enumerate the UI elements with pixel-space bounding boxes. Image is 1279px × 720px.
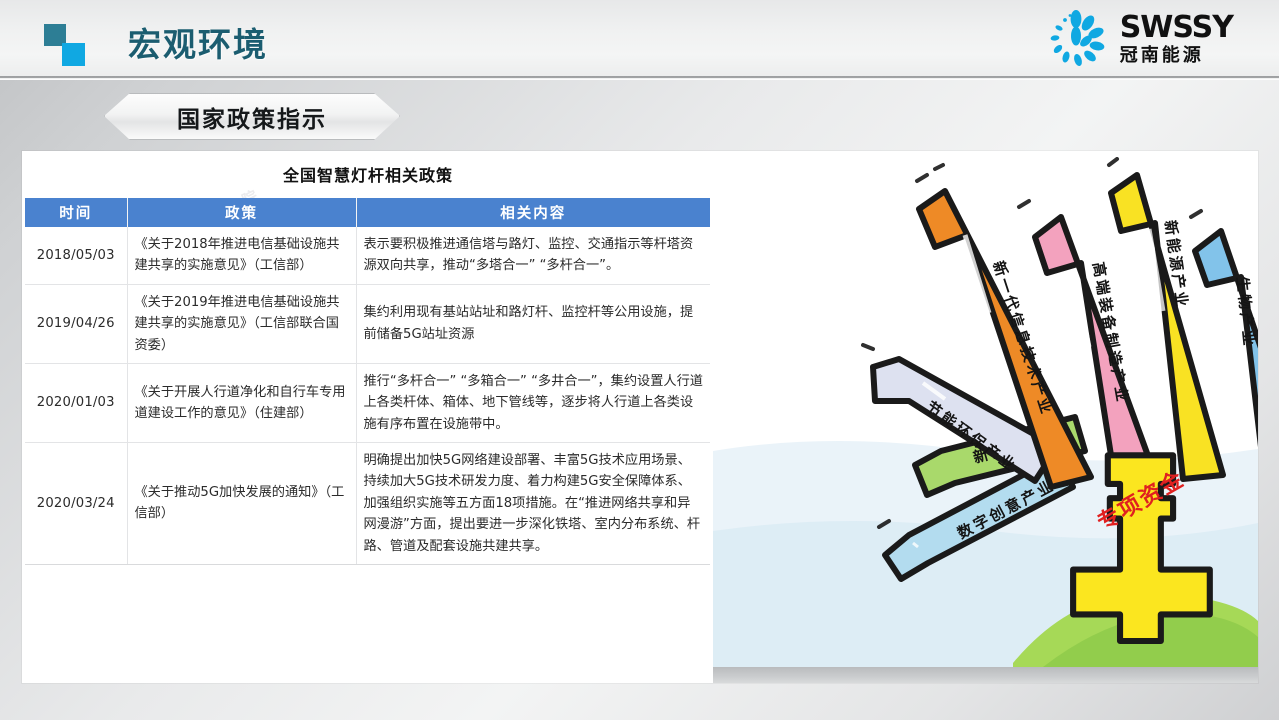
cell-time: 2019/04/26: [25, 284, 127, 363]
cell-policy: 《关于开展人行道净化和自行车专用道建设工作的意见》（住建部）: [127, 363, 356, 442]
illustration-arrows-yuan: 数字创意产业 新能源汽车 节能环保产业: [713, 151, 1258, 683]
table-row: 2019/04/26 《关于2019年推进电信基础设施共建共享的实施意见》（工信…: [25, 284, 710, 363]
content-panel: 全国智慧灯杆相关政策 产业研究院 产业研究院 产业研究院 产业研究院 产业研究院…: [22, 151, 1258, 683]
cell-policy: 《关于推动5G加快发展的通知》（工信部）: [127, 443, 356, 565]
table-row: 2020/03/24 《关于推动5G加快发展的通知》（工信部） 明确提出加快5G…: [25, 443, 710, 565]
cell-policy: 《关于2019年推进电信基础设施共建共享的实施意见》（工信部联合国资委）: [127, 284, 356, 363]
policy-table-block: 全国智慧灯杆相关政策 产业研究院 产业研究院 产业研究院 产业研究院 产业研究院…: [24, 157, 712, 565]
cell-content: 表示要积极推进通信塔与路灯、监控、交通指示等杆塔资源双向共享，推动“多塔合一” …: [356, 227, 710, 284]
slide-canvas: 宏观环境: [0, 0, 1279, 720]
illustration-bottom-bar: [713, 667, 1258, 683]
brand-chinese-name: 冠南能源: [1120, 47, 1204, 65]
cell-content: 集约利用现有基站站址和路灯杆、监控杆等公用设施，提前储备5G站址资源: [356, 284, 710, 363]
header-divider: [0, 76, 1279, 80]
column-header-time: 时间: [25, 198, 127, 227]
water-drop-circle-icon: [1044, 9, 1108, 69]
table-header-row: 时间 政策 相关内容: [25, 198, 710, 227]
cell-content: 明确提出加快5G网络建设部署、丰富5G技术应用场景、持续加大5G技术研发力度、着…: [356, 443, 710, 565]
column-header-policy: 政策: [127, 198, 356, 227]
cell-time: 2018/05/03: [25, 227, 127, 284]
policy-table: 时间 政策 相关内容 2018/05/03 《关于2018年推进电信基础设施共建…: [25, 198, 710, 565]
cyan-square-icon: [62, 43, 85, 66]
decorative-squares: [44, 24, 90, 66]
cell-time: 2020/01/03: [25, 363, 127, 442]
cell-content: 推行“多杆合一” “多箱合一” “多井合一”，集约设置人行道上各类杆体、箱体、地…: [356, 363, 710, 442]
column-header-content: 相关内容: [356, 198, 710, 227]
table-row: 2020/01/03 《关于开展人行道净化和自行车专用道建设工作的意见》（住建部…: [25, 363, 710, 442]
illustration-svg: 数字创意产业 新能源汽车 节能环保产业: [713, 151, 1258, 683]
cell-time: 2020/03/24: [25, 443, 127, 565]
section-banner-label: 国家政策指示: [177, 100, 327, 134]
section-banner: 国家政策指示: [104, 93, 400, 140]
page-title: 宏观环境: [128, 18, 268, 66]
brand-logo: SWSSY 冠南能源: [1044, 8, 1233, 70]
brand-latin-name: SWSSY: [1120, 13, 1233, 43]
table-title: 全国智慧灯杆相关政策: [24, 157, 712, 198]
slide-header: 宏观环境: [0, 0, 1279, 78]
cell-policy: 《关于2018年推进电信基础设施共建共享的实施意见》（工信部）: [127, 227, 356, 284]
table-row: 2018/05/03 《关于2018年推进电信基础设施共建共享的实施意见》（工信…: [25, 227, 710, 284]
